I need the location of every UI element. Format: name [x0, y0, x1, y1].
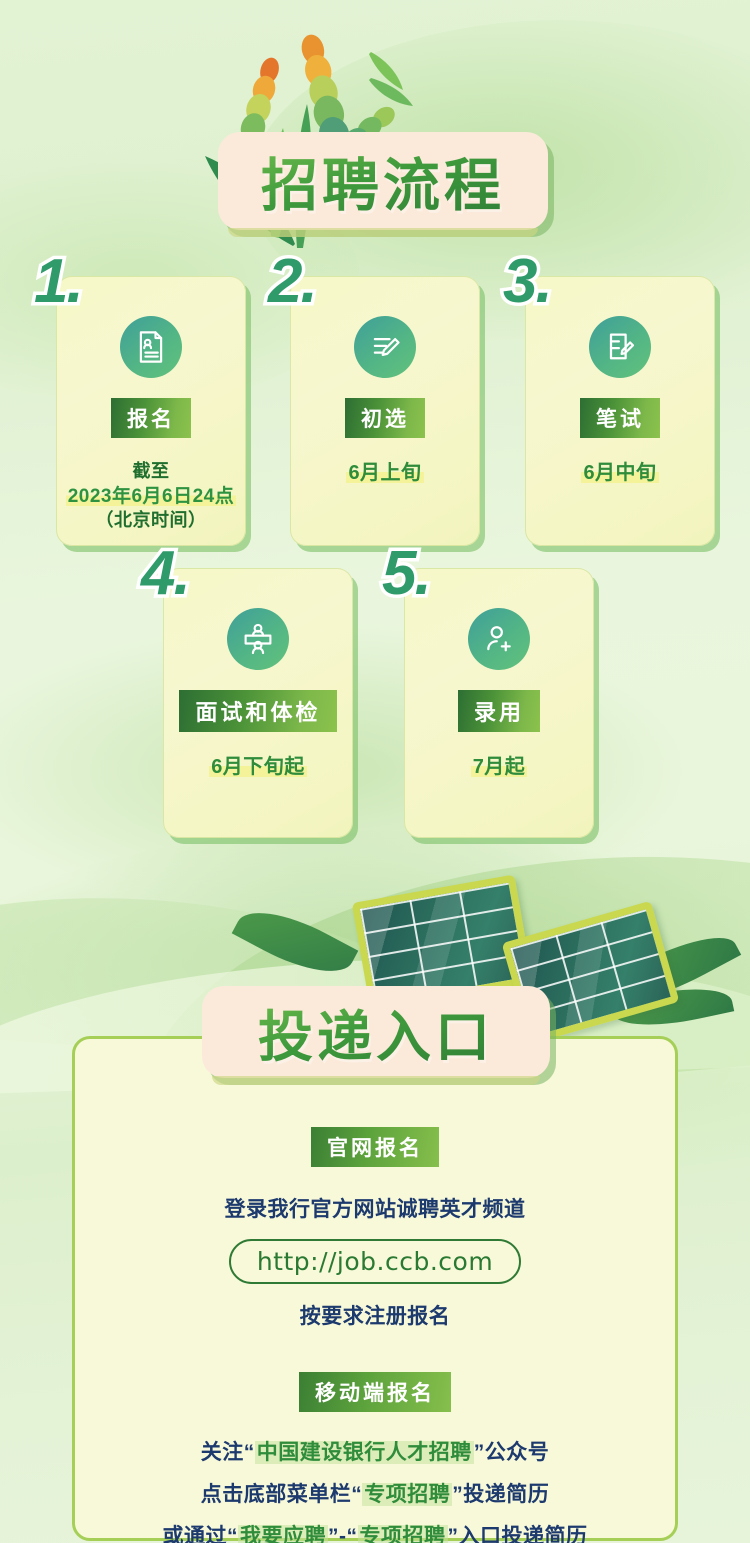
step-label: 初选 — [345, 398, 425, 438]
process-step-card[interactable]: 4. 面试和体检 6月下旬起 — [163, 568, 353, 838]
exam-paper-icon — [589, 316, 651, 378]
highlighted-phrase: 中国建设银行人才招聘 — [255, 1441, 474, 1464]
section-title-submission-text: 投递入口 — [258, 992, 494, 1072]
resume-document-icon — [120, 316, 182, 378]
section-title-process: 招聘流程 — [218, 132, 548, 230]
text-segment: 投递简历 — [463, 1483, 549, 1506]
highlighted-phrase: 我要应聘 — [238, 1525, 328, 1543]
mobile-instruction-line-2: 点击底部菜单栏“专项招聘”投递简历 — [75, 1478, 675, 1508]
step-date: 7月起 — [471, 754, 528, 780]
text-segment: 点击底部菜单栏 — [201, 1483, 352, 1506]
section-title-process-text: 招聘流程 — [261, 140, 505, 222]
text-segment: 入口投递简历 — [459, 1525, 588, 1543]
interview-people-icon — [227, 608, 289, 670]
step-number: 2. — [268, 246, 316, 317]
step-label: 面试和体检 — [179, 690, 336, 732]
leaf-decoration — [232, 894, 359, 989]
section-title-submission: 投递入口 — [202, 986, 550, 1078]
text-segment: 公众号 — [485, 1441, 550, 1464]
add-person-icon — [468, 608, 530, 670]
step-number: 4. — [141, 538, 189, 609]
pencil-edit-icon — [354, 316, 416, 378]
step-number: 5. — [382, 538, 430, 609]
quote-close: ” — [328, 1525, 339, 1543]
mobile-section-badge: 移动端报名 — [299, 1372, 451, 1412]
quote-open: “ — [351, 1483, 362, 1506]
process-step-card[interactable]: 2. 初选 6月上旬 — [290, 276, 480, 546]
quote-close: ” — [448, 1525, 459, 1543]
text-segment: 关注 — [201, 1441, 244, 1464]
step-label: 笔试 — [580, 398, 660, 438]
highlighted-phrase: 专项招聘 — [358, 1525, 448, 1543]
highlighted-phrase: 专项招聘 — [362, 1483, 452, 1506]
process-step-card[interactable]: 1. 报名 截至 2023年6月6日24点 （北京时间） — [56, 276, 246, 546]
step-number: 3. — [503, 246, 551, 317]
step-date: 6月上旬 — [346, 460, 423, 486]
submission-panel: 官网报名 登录我行官方网站诚聘英才频道 http://job.ccb.com 按… — [72, 1036, 678, 1541]
step-date: 6月中旬 — [581, 460, 658, 486]
mobile-instruction-line-3: 或通过“我要应聘”-“专项招聘”入口投递简历 — [75, 1520, 675, 1543]
quote-open: “ — [227, 1525, 238, 1543]
website-section-badge: 官网报名 — [311, 1127, 439, 1167]
quote-open: “ — [244, 1441, 255, 1464]
step-label: 录用 — [458, 690, 540, 732]
quote-open: “ — [347, 1525, 358, 1543]
quote-close: ” — [452, 1483, 463, 1506]
process-step-card[interactable]: 3. 笔试 6月中旬 — [525, 276, 715, 546]
separator: - — [339, 1525, 347, 1543]
step-label: 报名 — [111, 398, 191, 438]
infographic-page: 招聘流程 1. 报名 截至 2023年6月6日24点 （北京时间） 2. 初选 — [0, 0, 750, 1543]
text-segment: 或通过 — [163, 1525, 228, 1543]
step-number: 1. — [34, 246, 82, 317]
quote-close: ” — [474, 1441, 485, 1464]
website-instruction-line-1: 登录我行官方网站诚聘英才频道 — [75, 1193, 675, 1223]
website-instruction-line-2: 按要求注册报名 — [75, 1300, 675, 1330]
mobile-instruction-line-1: 关注“中国建设银行人才招聘”公众号 — [75, 1436, 675, 1466]
step-date: 6月下旬起 — [209, 754, 307, 780]
step-date: 截至 2023年6月6日24点 （北京时间） — [66, 460, 237, 533]
job-website-url[interactable]: http://job.ccb.com — [229, 1239, 521, 1284]
process-step-card[interactable]: 5. 录用 7月起 — [404, 568, 594, 838]
